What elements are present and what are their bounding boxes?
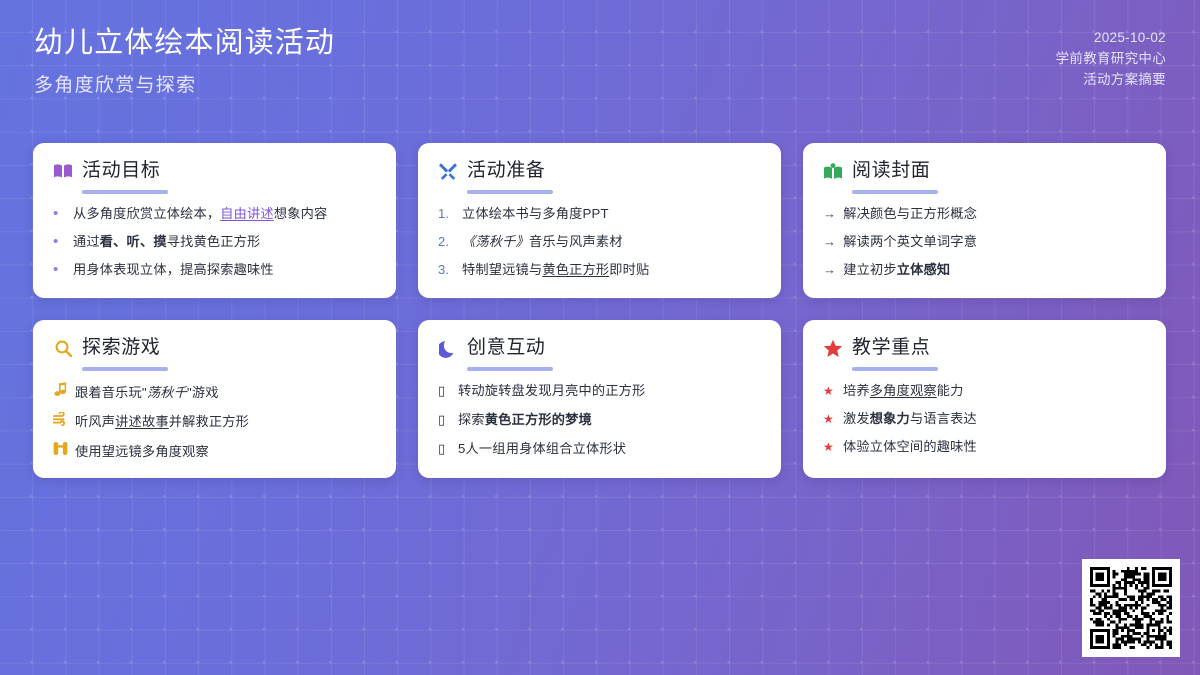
list-marker: 2. — [438, 233, 455, 251]
list-item: 跟着音乐玩"荡秋千"游戏 — [53, 382, 378, 402]
card-title-underline — [852, 367, 938, 371]
list-item: •从多角度欣赏立体绘本，自由讲述想象内容 — [53, 205, 378, 223]
card-title-underline — [82, 190, 168, 194]
list-marker: → — [823, 205, 836, 223]
card-header: 阅读封面 — [823, 159, 1148, 183]
list-item-text: 5人一组用身体组合立体形状 — [458, 440, 763, 458]
list-item-text: 解读两个英文单词字意 — [843, 233, 1148, 251]
list-item: •用身体表现立体，提高探索趣味性 — [53, 261, 378, 279]
list-item: 1.立体绘本书与多角度PPT — [438, 205, 763, 223]
card-title-underline — [852, 190, 938, 194]
list-marker: • — [53, 261, 66, 279]
list-item: •通过看、听、摸寻找黄色正方形 — [53, 233, 378, 251]
list-item: →解决颜色与正方形概念 — [823, 205, 1148, 223]
card-title: 活动准备 — [467, 159, 545, 183]
list-item-text: 立体绘本书与多角度PPT — [462, 205, 763, 223]
star-icon — [823, 338, 843, 358]
music-note-icon — [53, 382, 68, 397]
list-item: ★激发想象力与语言表达 — [823, 410, 1148, 428]
list-marker: 1. — [438, 205, 455, 223]
card-title-underline — [467, 190, 553, 194]
card-header: 探索游戏 — [53, 336, 378, 360]
list-item: →建立初步立体感知 — [823, 261, 1148, 279]
list-item-text: 跟着音乐玩"荡秋千"游戏 — [75, 384, 378, 402]
card-activity-goals: 活动目标•从多角度欣赏立体绘本，自由讲述想象内容•通过看、听、摸寻找黄色正方形•… — [33, 143, 396, 298]
list-item-text: 转动旋转盘发现月亮中的正方形 — [458, 382, 763, 400]
card-body: 跟着音乐玩"荡秋千"游戏听风声讲述故事并解救正方形使用望远镜多角度观察 — [53, 382, 378, 462]
open-book-icon — [53, 161, 73, 181]
card-body: ★培养多角度观察能力★激发想象力与语言表达★体验立体空间的趣味性 — [823, 382, 1148, 456]
card-header: 教学重点 — [823, 336, 1148, 360]
list-item: ▯5人一组用身体组合立体形状 — [438, 440, 763, 459]
list-item-text: 特制望远镜与黄色正方形即时贴 — [462, 261, 763, 279]
card-header: 活动目标 — [53, 159, 378, 183]
list-item-text: 探索黄色正方形的梦境 — [458, 411, 763, 429]
card-body: •从多角度欣赏立体绘本，自由讲述想象内容•通过看、听、摸寻找黄色正方形•用身体表… — [53, 205, 378, 279]
list-item: 3.特制望远镜与黄色正方形即时贴 — [438, 261, 763, 279]
list-item-text: 听风声讲述故事并解救正方形 — [75, 413, 378, 431]
list-item-text: 建立初步立体感知 — [843, 261, 1148, 279]
card-creative-interaction: 创意互动▯转动旋转盘发现月亮中的正方形▯探索黄色正方形的梦境▯5人一组用身体组合… — [418, 320, 781, 478]
list-marker: 3. — [438, 261, 455, 279]
list-marker: → — [823, 233, 836, 251]
list-marker: ▯ — [438, 412, 451, 430]
binoculars-icon — [53, 441, 68, 456]
header-organization: 学前教育研究中心 — [1056, 48, 1166, 69]
card-title: 创意互动 — [467, 336, 545, 360]
card-title-underline — [82, 367, 168, 371]
qr-code-canvas — [1090, 567, 1172, 649]
header-date: 2025-10-02 — [1094, 27, 1166, 48]
moon-icon — [438, 338, 458, 358]
green-book-icon — [823, 161, 843, 181]
list-item-text: 《荡秋千》音乐与风声素材 — [462, 233, 763, 251]
page-subtitle: 多角度欣赏与探索 — [34, 71, 335, 101]
list-item: ▯探索黄色正方形的梦境 — [438, 411, 763, 430]
list-marker: → — [823, 261, 836, 279]
card-grid: 活动目标•从多角度欣赏立体绘本，自由讲述想象内容•通过看、听、摸寻找黄色正方形•… — [33, 143, 1167, 478]
wind-icon — [53, 412, 68, 427]
card-reading-cover: 阅读封面→解决颜色与正方形概念→解读两个英文单词字意→建立初步立体感知 — [803, 143, 1166, 298]
header-meta-group: 2025-10-02 学前教育研究中心 活动方案摘要 — [1056, 24, 1166, 90]
list-marker: ★ — [823, 410, 836, 428]
header-title-group: 幼儿立体绘本阅读活动 多角度欣赏与探索 — [34, 24, 335, 101]
card-exploration-games: 探索游戏跟着音乐玩"荡秋千"游戏听风声讲述故事并解救正方形使用望远镜多角度观察 — [33, 320, 396, 478]
card-title: 探索游戏 — [82, 336, 160, 360]
card-body: ▯转动旋转盘发现月亮中的正方形▯探索黄色正方形的梦境▯5人一组用身体组合立体形状 — [438, 382, 763, 459]
card-title-underline — [467, 367, 553, 371]
card-activity-preparation: 活动准备1.立体绘本书与多角度PPT2.《荡秋千》音乐与风声素材3.特制望远镜与… — [418, 143, 781, 298]
card-header: 活动准备 — [438, 159, 763, 183]
list-marker: • — [53, 233, 66, 251]
page-title: 幼儿立体绘本阅读活动 — [34, 24, 335, 62]
list-item: 使用望远镜多角度观察 — [53, 441, 378, 461]
card-title: 阅读封面 — [852, 159, 930, 183]
list-marker: ▯ — [438, 441, 451, 459]
tools-icon — [438, 161, 458, 181]
card-body: 1.立体绘本书与多角度PPT2.《荡秋千》音乐与风声素材3.特制望远镜与黄色正方… — [438, 205, 763, 279]
list-item-text: 激发想象力与语言表达 — [843, 410, 1148, 428]
list-item-text: 培养多角度观察能力 — [843, 382, 1148, 400]
card-body: →解决颜色与正方形概念→解读两个英文单词字意→建立初步立体感知 — [823, 205, 1148, 279]
list-item-text: 用身体表现立体，提高探索趣味性 — [73, 261, 378, 279]
card-header: 创意互动 — [438, 336, 763, 360]
list-marker: ★ — [823, 438, 836, 456]
card-teaching-focus: 教学重点★培养多角度观察能力★激发想象力与语言表达★体验立体空间的趣味性 — [803, 320, 1166, 478]
list-item-text: 通过看、听、摸寻找黄色正方形 — [73, 233, 378, 251]
list-marker: ★ — [823, 382, 836, 400]
list-item: ▯转动旋转盘发现月亮中的正方形 — [438, 382, 763, 401]
list-item: ★培养多角度观察能力 — [823, 382, 1148, 400]
list-item-text: 使用望远镜多角度观察 — [75, 443, 378, 461]
qr-code[interactable] — [1082, 559, 1180, 657]
list-item: →解读两个英文单词字意 — [823, 233, 1148, 251]
list-marker: • — [53, 205, 66, 223]
list-item: 听风声讲述故事并解救正方形 — [53, 412, 378, 432]
magnifier-icon — [53, 338, 73, 358]
list-item-text: 解决颜色与正方形概念 — [843, 205, 1148, 223]
card-title: 教学重点 — [852, 336, 930, 360]
slide-header: 幼儿立体绘本阅读活动 多角度欣赏与探索 2025-10-02 学前教育研究中心 … — [0, 0, 1200, 128]
header-doc-type: 活动方案摘要 — [1083, 69, 1166, 90]
list-item: 2.《荡秋千》音乐与风声素材 — [438, 233, 763, 251]
list-item: ★体验立体空间的趣味性 — [823, 438, 1148, 456]
list-marker: ▯ — [438, 383, 451, 401]
list-item-text: 体验立体空间的趣味性 — [843, 438, 1148, 456]
card-title: 活动目标 — [82, 159, 160, 183]
list-item-text[interactable]: 从多角度欣赏立体绘本，自由讲述想象内容 — [73, 205, 378, 223]
